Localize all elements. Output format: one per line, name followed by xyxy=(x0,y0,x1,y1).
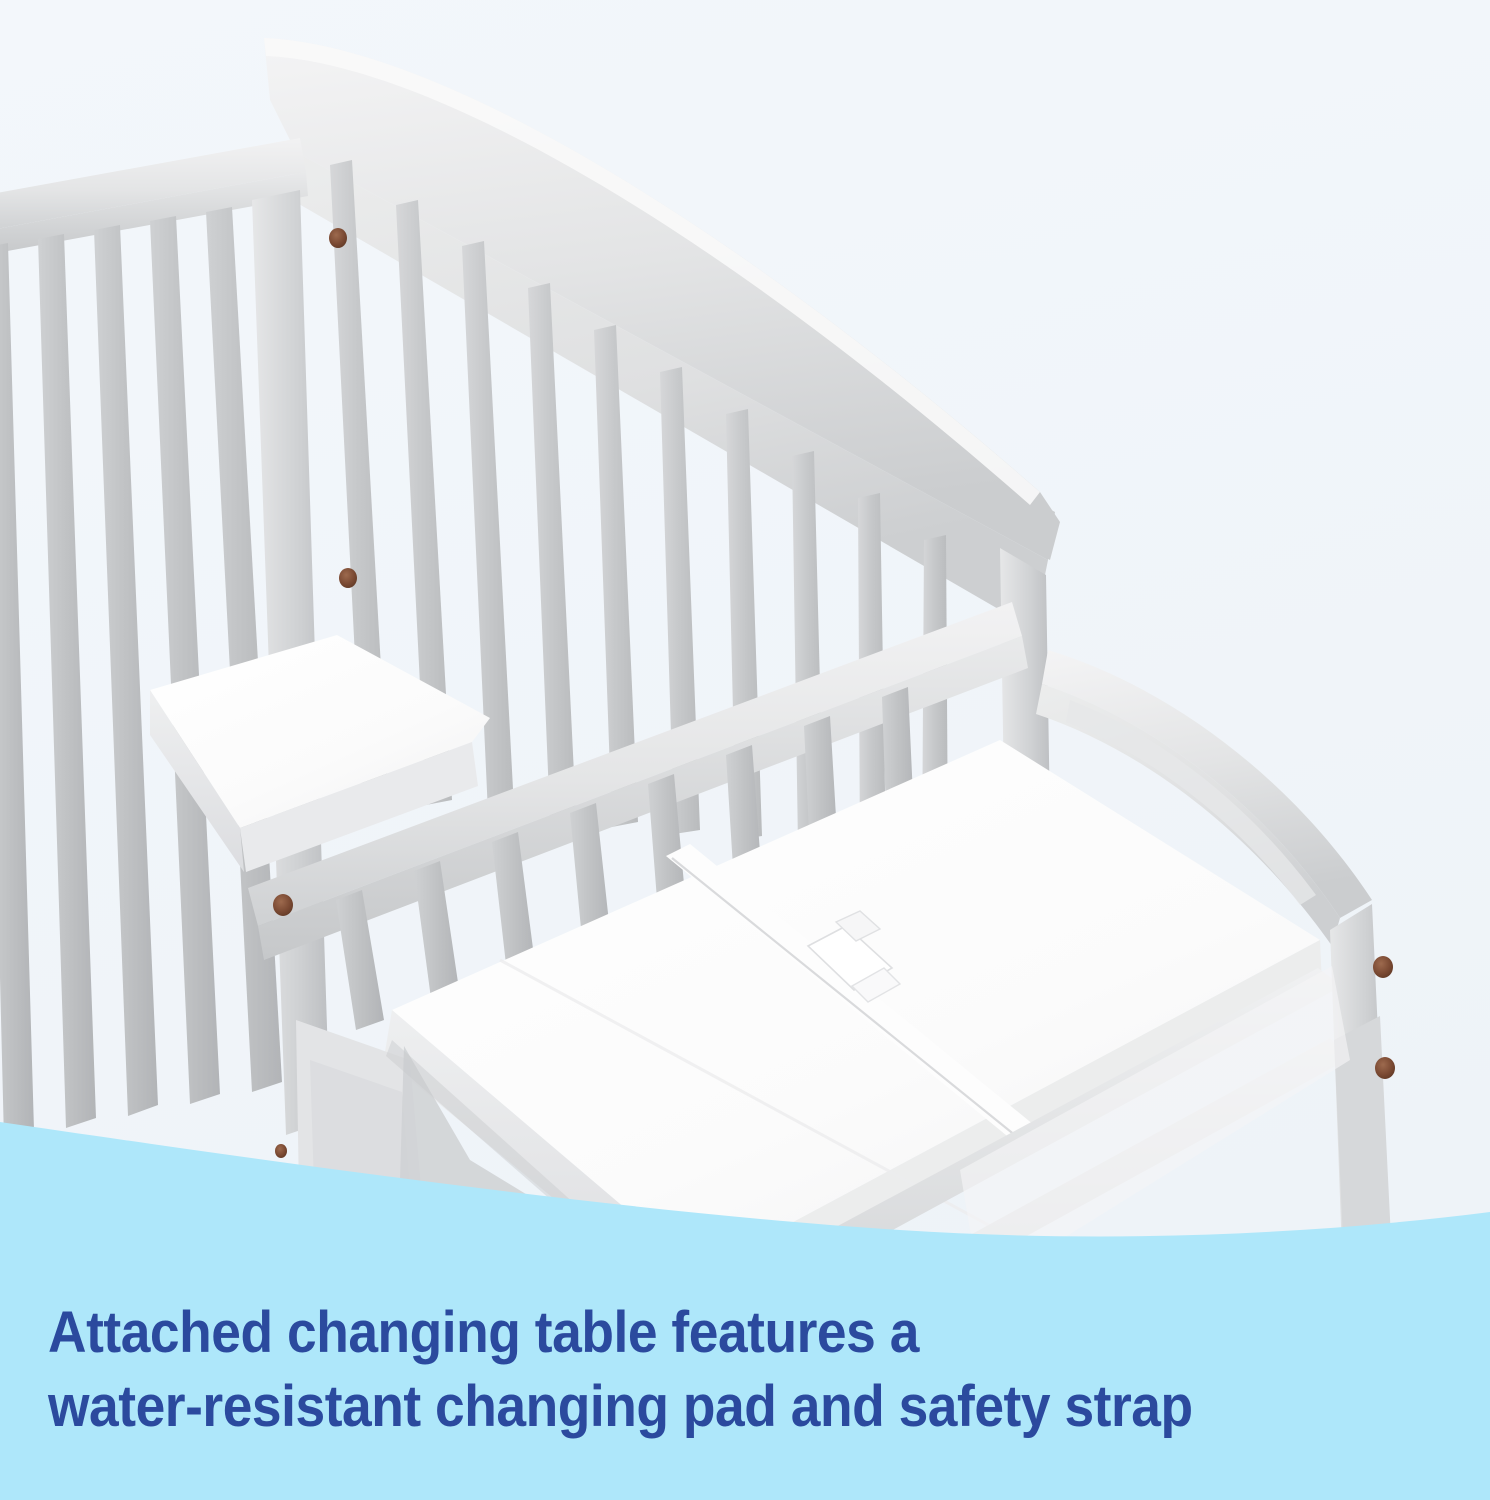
screw-cap xyxy=(275,1144,287,1158)
caption-text: Attached changing table features a water… xyxy=(48,1296,1281,1444)
screw-cap xyxy=(273,894,293,916)
screw-cap xyxy=(329,228,347,248)
product-photograph xyxy=(0,0,1490,1500)
screw-cap xyxy=(1375,1057,1395,1079)
screw-cap xyxy=(339,568,357,588)
screw-cap xyxy=(1373,956,1393,978)
product-image-card: Attached changing table features a water… xyxy=(0,0,1490,1500)
